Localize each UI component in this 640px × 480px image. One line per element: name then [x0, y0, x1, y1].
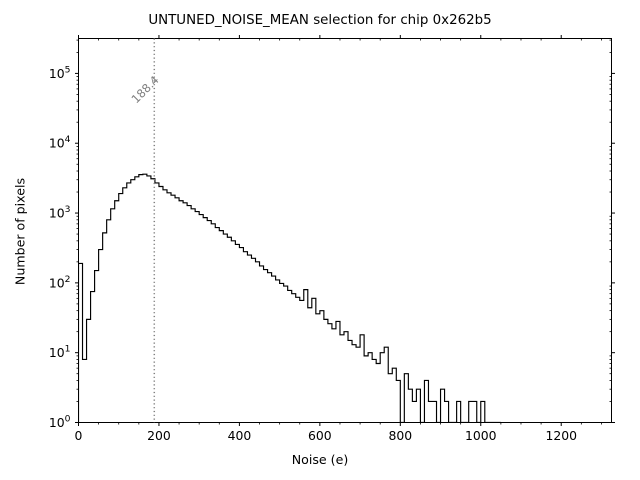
- y-tick-label: 105: [49, 64, 71, 81]
- y-tick-label: 103: [49, 204, 71, 221]
- histogram-figure: UNTUNED_NOISE_MEAN selection for chip 0x…: [0, 0, 640, 480]
- plot-area: 0200400600800100012001001011021031041051…: [0, 0, 640, 480]
- axes-frame: [79, 39, 612, 423]
- y-tick-label: 102: [49, 274, 71, 291]
- y-tick-label: 104: [49, 134, 71, 151]
- y-tick-label: 100: [49, 414, 71, 431]
- x-tick-label: 1200: [545, 428, 577, 443]
- x-tick-label: 0: [75, 428, 83, 443]
- x-axis-label: Noise (e): [0, 452, 640, 467]
- x-tick-label: 600: [308, 428, 332, 443]
- y-tick-label: 101: [49, 344, 71, 361]
- x-tick-label: 1000: [465, 428, 497, 443]
- x-tick-label: 200: [147, 428, 171, 443]
- x-tick-label: 800: [388, 428, 412, 443]
- y-axis-label: Number of pixels: [13, 132, 28, 332]
- cut-line-label: 188.4: [129, 73, 162, 106]
- x-tick-label: 400: [228, 428, 252, 443]
- histogram-step-line: [79, 174, 501, 422]
